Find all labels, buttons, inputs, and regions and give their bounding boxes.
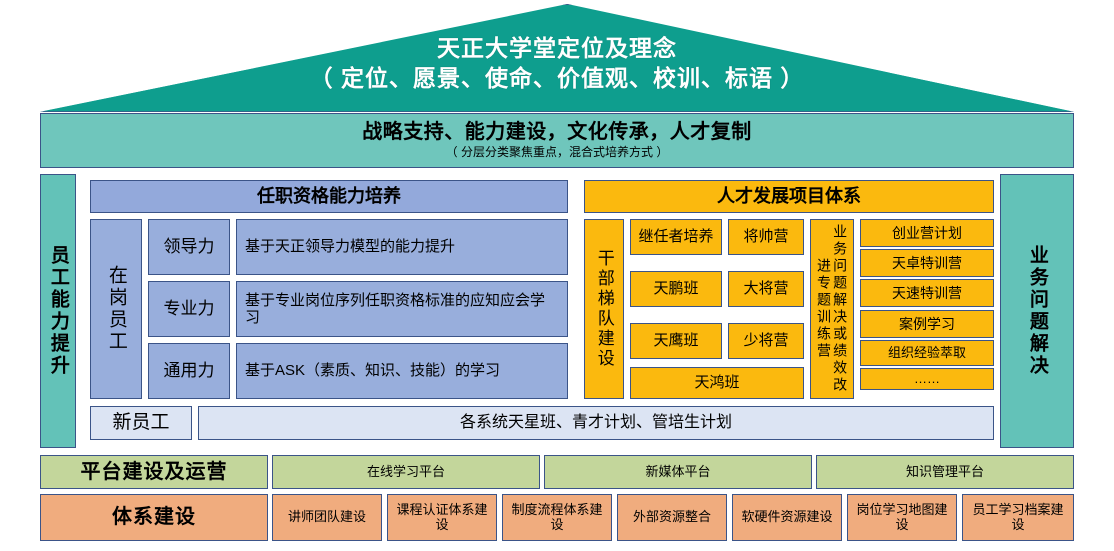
system-row-title: 体系建设 xyxy=(40,494,268,541)
capability-desc-general: 基于ASK（素质、知识、技能）的学习 xyxy=(236,343,568,399)
sidebar-right-label: 业务问题解决 xyxy=(1026,245,1048,377)
strategy-band: 战略支持、能力建设，文化传承，人才复制 （ 分层分类聚焦重点，混合式培养方式 ） xyxy=(40,113,1074,168)
talent-item-shaojiang: 少将营 xyxy=(728,323,804,359)
roof-title-line1: 天正大学堂定位及理念 xyxy=(40,34,1074,64)
strategy-main-text: 战略支持、能力建设，文化传承，人才复制 xyxy=(362,121,752,144)
system-item-learning-archive: 员工学习档案建设 xyxy=(962,494,1074,541)
platform-item-new-media: 新媒体平台 xyxy=(544,455,812,489)
roof-title-line2: （ 定位、愿景、使命、价值观、校训、标语 ） xyxy=(40,64,1074,94)
qualification-header: 任职资格能力培养 xyxy=(90,180,568,213)
sidebar-employee-capability: 员工能力提升 xyxy=(40,174,76,448)
on-job-employee-group: 在岗员工 xyxy=(90,219,142,399)
platform-item-online-learning: 在线学习平台 xyxy=(272,455,540,489)
talent-item-ellipsis: …… xyxy=(860,368,994,390)
talent-item-experience-extraction: 组织经验萃取 xyxy=(860,340,994,366)
system-item-hardware-software: 软硬件资源建设 xyxy=(732,494,842,541)
system-item-process-system: 制度流程体系建设 xyxy=(502,494,612,541)
system-item-job-learning-map: 岗位学习地图建设 xyxy=(847,494,957,541)
talent-item-tianying: 天鹰班 xyxy=(630,323,722,359)
talent-item-startup-camp: 创业营计划 xyxy=(860,219,994,247)
talent-item-successor: 继任者培养 xyxy=(630,219,722,255)
capability-desc-professional: 基于专业岗位序列任职资格标准的应知应会学习 xyxy=(236,281,568,337)
sidebar-left-label: 员工能力提升 xyxy=(47,245,69,377)
on-job-employee-label: 在岗员工 xyxy=(105,265,127,353)
platform-item-knowledge-management: 知识管理平台 xyxy=(816,455,1074,489)
cadre-pipeline-group: 干部梯队建设 xyxy=(584,219,624,399)
cadre-pipeline-label: 干部梯队建设 xyxy=(594,249,614,369)
business-problem-camp-label: 业务问题解决或绩效改进专题训练营 xyxy=(816,220,848,398)
sidebar-business-problem-solving: 业务问题解决 xyxy=(1000,174,1074,448)
talent-program-header: 人才发展项目体系 xyxy=(584,180,994,213)
roof-title-block: 天正大学堂定位及理念 （ 定位、愿景、使命、价值观、校训、标语 ） xyxy=(40,34,1074,94)
talent-item-tianpeng: 天鹏班 xyxy=(630,271,722,307)
new-employee-description: 各系统天星班、青才计划、管培生计划 xyxy=(198,406,994,440)
talent-item-tiansu-camp: 天速特训营 xyxy=(860,279,994,307)
platform-row-title: 平台建设及运营 xyxy=(40,455,268,489)
talent-item-tianzhuo-camp: 天卓特训营 xyxy=(860,249,994,277)
capability-desc-leadership: 基于天正领导力模型的能力提升 xyxy=(236,219,568,275)
capability-cell-professional: 专业力 xyxy=(148,281,230,337)
talent-item-dajiang: 大将营 xyxy=(728,271,804,307)
system-item-course-certification: 课程认证体系建设 xyxy=(387,494,497,541)
system-item-external-resources: 外部资源整合 xyxy=(617,494,727,541)
capability-cell-general: 通用力 xyxy=(148,343,230,399)
talent-item-case-study: 案例学习 xyxy=(860,310,994,338)
strategy-sub-text: （ 分层分类聚焦重点，混合式培养方式 ） xyxy=(446,146,669,160)
talent-item-tianhong: 天鸿班 xyxy=(630,367,804,399)
capability-cell-leadership: 领导力 xyxy=(148,219,230,275)
talent-item-jiangshuai: 将帅营 xyxy=(728,219,804,255)
university-framework-diagram: 天正大学堂定位及理念 （ 定位、愿景、使命、价值观、校训、标语 ） 战略支持、能… xyxy=(0,0,1114,551)
system-item-trainer-team: 讲师团队建设 xyxy=(272,494,382,541)
new-employee-label: 新员工 xyxy=(90,406,192,440)
business-problem-camp-group: 业务问题解决或绩效改进专题训练营 xyxy=(810,219,854,399)
